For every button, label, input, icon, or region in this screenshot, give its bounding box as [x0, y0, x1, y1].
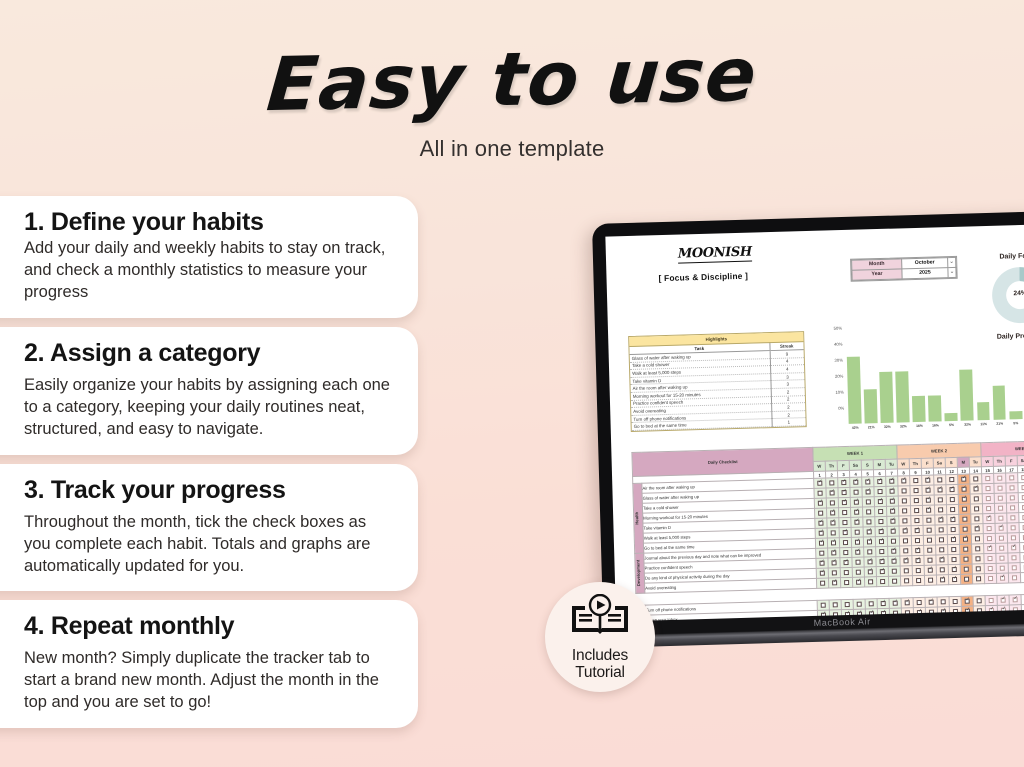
checkbox[interactable]: [831, 531, 836, 536]
checkbox[interactable]: [986, 516, 991, 521]
checkbox-cell[interactable]: [935, 525, 947, 535]
checkbox[interactable]: [938, 507, 943, 512]
checkbox[interactable]: [999, 556, 1004, 561]
checkbox-cell[interactable]: [937, 597, 949, 607]
checkbox[interactable]: [974, 516, 979, 521]
checkbox[interactable]: [901, 479, 906, 484]
checkbox[interactable]: [891, 549, 896, 554]
checkbox[interactable]: [949, 487, 954, 492]
checkbox-cell[interactable]: [910, 485, 922, 495]
checkbox-cell[interactable]: [996, 543, 1008, 553]
checkbox-cell[interactable]: [946, 484, 958, 494]
checkbox[interactable]: [963, 547, 968, 552]
checkbox-cell[interactable]: [911, 525, 923, 535]
checkbox[interactable]: [890, 519, 895, 524]
checkbox[interactable]: [963, 537, 968, 542]
checkbox-cell[interactable]: [995, 533, 1007, 543]
checkbox[interactable]: [856, 570, 861, 575]
checkbox-cell[interactable]: [886, 486, 898, 496]
checkbox[interactable]: [818, 521, 823, 526]
checkbox[interactable]: [951, 547, 956, 552]
checkbox-cell[interactable]: [995, 513, 1007, 523]
checkbox[interactable]: [891, 529, 896, 534]
checkbox[interactable]: [926, 508, 931, 513]
checkbox[interactable]: [1011, 525, 1016, 530]
checkbox[interactable]: [830, 491, 835, 496]
checkbox[interactable]: [987, 556, 992, 561]
checkbox-cell[interactable]: [828, 568, 840, 578]
checkbox[interactable]: [843, 560, 848, 565]
checkbox[interactable]: [914, 498, 919, 503]
checkbox-cell[interactable]: [814, 488, 826, 498]
checkbox[interactable]: [881, 601, 886, 606]
checkbox-cell[interactable]: [934, 505, 946, 515]
checkbox[interactable]: [913, 478, 918, 483]
checkbox[interactable]: [938, 517, 943, 522]
checkbox[interactable]: [902, 518, 907, 523]
checkbox[interactable]: [821, 603, 826, 608]
checkbox[interactable]: [891, 559, 896, 564]
checkbox-cell[interactable]: [910, 475, 922, 485]
checkbox-cell[interactable]: [949, 596, 961, 606]
checkbox[interactable]: [1011, 535, 1016, 540]
checkbox[interactable]: [1010, 515, 1015, 520]
checkbox[interactable]: [999, 546, 1004, 551]
checkbox-cell[interactable]: [971, 514, 983, 524]
checkbox-cell[interactable]: [922, 495, 934, 505]
checkbox[interactable]: [892, 569, 897, 574]
checkbox-cell[interactable]: [983, 523, 995, 533]
checkbox-cell[interactable]: [1008, 573, 1020, 583]
checkbox-cell[interactable]: [1006, 483, 1018, 493]
checkbox[interactable]: [843, 530, 848, 535]
checkbox-cell[interactable]: [911, 515, 923, 525]
checkbox[interactable]: [904, 578, 909, 583]
checkbox[interactable]: [987, 546, 992, 551]
checkbox-cell[interactable]: [984, 543, 996, 553]
checkbox-cell[interactable]: [912, 575, 924, 585]
checkbox-cell[interactable]: [816, 558, 828, 568]
checkbox[interactable]: [854, 490, 859, 495]
chevron-down-icon[interactable]: ⌄: [948, 257, 956, 267]
checkbox-cell[interactable]: [946, 504, 958, 514]
checkbox-cell[interactable]: [1020, 542, 1024, 552]
checkbox[interactable]: [855, 550, 860, 555]
checkbox-cell[interactable]: [886, 506, 898, 516]
checkbox[interactable]: [914, 508, 919, 513]
checkbox-cell[interactable]: [994, 473, 1006, 483]
checkbox[interactable]: [950, 507, 955, 512]
checkbox-cell[interactable]: [958, 484, 970, 494]
checkbox-cell[interactable]: [876, 556, 888, 566]
checkbox-cell[interactable]: [1018, 472, 1024, 482]
checkbox[interactable]: [927, 548, 932, 553]
checkbox-cell[interactable]: [898, 496, 910, 506]
checkbox-cell[interactable]: [814, 498, 826, 508]
checkbox[interactable]: [914, 488, 919, 493]
checkbox[interactable]: [819, 551, 824, 556]
checkbox-cell[interactable]: [898, 506, 910, 516]
checkbox-cell[interactable]: [970, 504, 982, 514]
checkbox[interactable]: [961, 477, 966, 482]
checkbox-cell[interactable]: [972, 554, 984, 564]
checkbox-cell[interactable]: [887, 526, 899, 536]
checkbox-cell[interactable]: [851, 517, 863, 527]
checkbox[interactable]: [845, 602, 850, 607]
checkbox-cell[interactable]: [971, 534, 983, 544]
checkbox[interactable]: [941, 599, 946, 604]
checkbox-cell[interactable]: [1020, 552, 1024, 562]
checkbox[interactable]: [1009, 485, 1014, 490]
checkbox[interactable]: [987, 526, 992, 531]
checkbox-cell[interactable]: [912, 555, 924, 565]
checkbox[interactable]: [878, 509, 883, 514]
checkbox[interactable]: [1000, 576, 1005, 581]
checkbox-cell[interactable]: [852, 557, 864, 567]
checkbox-cell[interactable]: [826, 478, 838, 488]
checkbox[interactable]: [940, 567, 945, 572]
checkbox-cell[interactable]: [864, 567, 876, 577]
checkbox-cell[interactable]: [970, 494, 982, 504]
checkbox-cell[interactable]: [924, 545, 936, 555]
checkbox-cell[interactable]: [982, 493, 994, 503]
checkbox[interactable]: [1012, 565, 1017, 570]
checkbox-cell[interactable]: [972, 574, 984, 584]
checkbox-cell[interactable]: [875, 506, 887, 516]
checkbox[interactable]: [928, 578, 933, 583]
checkbox[interactable]: [865, 480, 870, 485]
checkbox[interactable]: [866, 490, 871, 495]
checkbox[interactable]: [964, 567, 969, 572]
checkbox[interactable]: [999, 526, 1004, 531]
checkbox[interactable]: [902, 489, 907, 494]
checkbox-cell[interactable]: [912, 565, 924, 575]
checkbox[interactable]: [843, 540, 848, 545]
checkbox[interactable]: [877, 479, 882, 484]
checkbox-cell[interactable]: [996, 573, 1008, 583]
checkbox-cell[interactable]: [816, 568, 828, 578]
checkbox[interactable]: [830, 511, 835, 516]
checkbox-cell[interactable]: [982, 503, 994, 513]
checkbox-cell[interactable]: [1020, 562, 1024, 572]
checkbox-cell[interactable]: [982, 473, 994, 483]
checkbox-cell[interactable]: [960, 564, 972, 574]
checkbox[interactable]: [964, 577, 969, 582]
checkbox[interactable]: [976, 576, 981, 581]
checkbox[interactable]: [878, 519, 883, 524]
checkbox[interactable]: [820, 581, 825, 586]
checkbox[interactable]: [829, 481, 834, 486]
checkbox[interactable]: [926, 488, 931, 493]
checkbox-cell[interactable]: [947, 514, 959, 524]
checkbox[interactable]: [952, 567, 957, 572]
checkbox-cell[interactable]: [982, 483, 994, 493]
checkbox[interactable]: [939, 537, 944, 542]
checkbox-cell[interactable]: [838, 497, 850, 507]
checkbox-cell[interactable]: [839, 527, 851, 537]
checkbox-cell[interactable]: [888, 566, 900, 576]
checkbox[interactable]: [1012, 575, 1017, 580]
checkbox[interactable]: [915, 528, 920, 533]
checkbox-cell[interactable]: [815, 538, 827, 548]
checkbox[interactable]: [937, 478, 942, 483]
checkbox-cell[interactable]: [875, 516, 887, 526]
checkbox-cell[interactable]: [923, 515, 935, 525]
checkbox-cell[interactable]: [898, 476, 910, 486]
checkbox[interactable]: [998, 496, 1003, 501]
checkbox-cell[interactable]: [973, 596, 985, 606]
checkbox[interactable]: [925, 478, 930, 483]
checkbox-cell[interactable]: [958, 504, 970, 514]
checkbox[interactable]: [963, 557, 968, 562]
checkbox[interactable]: [976, 566, 981, 571]
checkbox-cell[interactable]: [876, 576, 888, 586]
checkbox[interactable]: [916, 568, 921, 573]
checkbox-cell[interactable]: [934, 475, 946, 485]
checkbox[interactable]: [962, 507, 967, 512]
checkbox-cell[interactable]: [899, 516, 911, 526]
checkbox[interactable]: [869, 601, 874, 606]
checkbox-cell[interactable]: [935, 515, 947, 525]
checkbox[interactable]: [892, 579, 897, 584]
checkbox-cell[interactable]: [853, 599, 865, 609]
checkbox[interactable]: [856, 580, 861, 585]
checkbox[interactable]: [963, 527, 968, 532]
checkbox[interactable]: [831, 550, 836, 555]
checkbox[interactable]: [977, 598, 982, 603]
checkbox[interactable]: [988, 566, 993, 571]
checkbox[interactable]: [950, 517, 955, 522]
checkbox[interactable]: [926, 498, 931, 503]
checkbox[interactable]: [973, 477, 978, 482]
checkbox-cell[interactable]: [828, 558, 840, 568]
checkbox-cell[interactable]: [994, 483, 1006, 493]
checkbox-cell[interactable]: [948, 554, 960, 564]
checkbox-cell[interactable]: [899, 536, 911, 546]
checkbox-cell[interactable]: [863, 507, 875, 517]
checkbox-cell[interactable]: [816, 548, 828, 558]
checkbox-cell[interactable]: [996, 553, 1008, 563]
checkbox-cell[interactable]: [1006, 493, 1018, 503]
checkbox[interactable]: [866, 520, 871, 525]
checkbox-cell[interactable]: [840, 577, 852, 587]
checkbox-cell[interactable]: [1006, 503, 1018, 513]
checkbox[interactable]: [857, 602, 862, 607]
checkbox-cell[interactable]: [1007, 513, 1019, 523]
checkbox-cell[interactable]: [970, 474, 982, 484]
checkbox[interactable]: [997, 476, 1002, 481]
checkbox[interactable]: [866, 500, 871, 505]
checkbox-cell[interactable]: [984, 573, 996, 583]
checkbox-cell[interactable]: [959, 524, 971, 534]
checkbox[interactable]: [986, 496, 991, 501]
checkbox[interactable]: [937, 488, 942, 493]
checkbox-cell[interactable]: [852, 547, 864, 557]
checkbox-cell[interactable]: [840, 547, 852, 557]
checkbox-cell[interactable]: [936, 555, 948, 565]
checkbox[interactable]: [842, 500, 847, 505]
checkbox-cell[interactable]: [948, 564, 960, 574]
checkbox[interactable]: [868, 569, 873, 574]
checkbox-cell[interactable]: [925, 597, 937, 607]
chevron-down-icon[interactable]: ⌄: [948, 267, 956, 277]
checkbox-cell[interactable]: [840, 567, 852, 577]
checkbox-cell[interactable]: [1007, 533, 1019, 543]
checkbox-cell[interactable]: [838, 487, 850, 497]
checkbox-cell[interactable]: [815, 508, 827, 518]
checkbox[interactable]: [832, 570, 837, 575]
checkbox-cell[interactable]: [972, 564, 984, 574]
checkbox[interactable]: [842, 510, 847, 515]
checkbox-cell[interactable]: [875, 526, 887, 536]
checkbox-cell[interactable]: [936, 575, 948, 585]
checkbox[interactable]: [962, 517, 967, 522]
checkbox-cell[interactable]: [961, 596, 973, 606]
checkbox[interactable]: [914, 518, 919, 523]
checkbox[interactable]: [961, 487, 966, 492]
checkbox[interactable]: [832, 580, 837, 585]
checkbox-cell[interactable]: [936, 565, 948, 575]
checkbox[interactable]: [818, 501, 823, 506]
checkbox-cell[interactable]: [984, 553, 996, 563]
checkbox-cell[interactable]: [839, 517, 851, 527]
checkbox[interactable]: [904, 568, 909, 573]
checkbox-cell[interactable]: [889, 598, 901, 608]
checkbox-cell[interactable]: [960, 574, 972, 584]
checkbox[interactable]: [889, 479, 894, 484]
checkbox[interactable]: [915, 558, 920, 563]
checkbox[interactable]: [975, 546, 980, 551]
checkbox[interactable]: [998, 506, 1003, 511]
month-year-selector[interactable]: Month October ⌄ Year 2025 ⌄: [850, 256, 958, 282]
checkbox[interactable]: [854, 510, 859, 515]
checkbox[interactable]: [985, 486, 990, 491]
checkbox-cell[interactable]: [995, 523, 1007, 533]
checkbox-cell[interactable]: [877, 598, 889, 608]
checkbox[interactable]: [973, 486, 978, 491]
checkbox-cell[interactable]: [874, 486, 886, 496]
checkbox-cell[interactable]: [985, 595, 997, 605]
checkbox-cell[interactable]: [996, 563, 1008, 573]
checkbox-cell[interactable]: [887, 516, 899, 526]
checkbox-cell[interactable]: [1008, 563, 1020, 573]
checkbox[interactable]: [916, 578, 921, 583]
checkbox[interactable]: [817, 481, 822, 486]
checkbox[interactable]: [939, 547, 944, 552]
checkbox[interactable]: [953, 599, 958, 604]
checkbox[interactable]: [867, 539, 872, 544]
checkbox[interactable]: [1011, 545, 1016, 550]
checkbox-cell[interactable]: [839, 507, 851, 517]
checkbox[interactable]: [833, 602, 838, 607]
checkbox[interactable]: [950, 497, 955, 502]
checkbox-cell[interactable]: [946, 494, 958, 504]
checkbox[interactable]: [1011, 555, 1016, 560]
checkbox-cell[interactable]: [826, 488, 838, 498]
checkbox-cell[interactable]: [900, 546, 912, 556]
checkbox-cell[interactable]: [959, 514, 971, 524]
checkbox-cell[interactable]: [924, 555, 936, 565]
checkbox[interactable]: [929, 600, 934, 605]
checkbox-cell[interactable]: [972, 544, 984, 554]
checkbox-cell[interactable]: [910, 495, 922, 505]
checkbox[interactable]: [819, 561, 824, 566]
checkbox-cell[interactable]: [826, 498, 838, 508]
checkbox-cell[interactable]: [984, 563, 996, 573]
checkbox[interactable]: [902, 509, 907, 514]
checkbox[interactable]: [855, 540, 860, 545]
checkbox-cell[interactable]: [839, 537, 851, 547]
checkbox[interactable]: [962, 497, 967, 502]
checkbox-cell[interactable]: [947, 534, 959, 544]
checkbox-cell[interactable]: [960, 554, 972, 564]
checkbox[interactable]: [903, 558, 908, 563]
checkbox[interactable]: [879, 529, 884, 534]
checkbox[interactable]: [844, 580, 849, 585]
checkbox[interactable]: [988, 576, 993, 581]
checkbox[interactable]: [951, 557, 956, 562]
checkbox-cell[interactable]: [827, 508, 839, 518]
checkbox[interactable]: [841, 480, 846, 485]
checkbox-cell[interactable]: [1019, 532, 1024, 542]
checkbox-cell[interactable]: [900, 566, 912, 576]
checkbox-cell[interactable]: [815, 528, 827, 538]
checkbox[interactable]: [975, 556, 980, 561]
checkbox[interactable]: [819, 541, 824, 546]
checkbox[interactable]: [903, 548, 908, 553]
checkbox-cell[interactable]: [862, 487, 874, 497]
checkbox[interactable]: [854, 520, 859, 525]
checkbox[interactable]: [879, 539, 884, 544]
checkbox[interactable]: [999, 536, 1004, 541]
checkbox[interactable]: [927, 538, 932, 543]
checkbox-cell[interactable]: [888, 556, 900, 566]
checkbox[interactable]: [842, 520, 847, 525]
checkbox-cell[interactable]: [1007, 523, 1019, 533]
checkbox[interactable]: [843, 550, 848, 555]
checkbox-cell[interactable]: [817, 600, 829, 610]
checkbox-cell[interactable]: [888, 546, 900, 556]
checkbox-cell[interactable]: [1008, 553, 1020, 563]
checkbox-cell[interactable]: [959, 534, 971, 544]
checkbox[interactable]: [820, 571, 825, 576]
checkbox[interactable]: [890, 489, 895, 494]
checkbox-cell[interactable]: [947, 524, 959, 534]
checkbox-cell[interactable]: [994, 503, 1006, 513]
checkbox[interactable]: [1013, 597, 1018, 602]
checkbox[interactable]: [867, 529, 872, 534]
checkbox[interactable]: [879, 549, 884, 554]
checkbox[interactable]: [1009, 475, 1014, 480]
checkbox-cell[interactable]: [911, 535, 923, 545]
checkbox-cell[interactable]: [1006, 473, 1018, 483]
checkbox[interactable]: [830, 501, 835, 506]
checkbox-cell[interactable]: [1019, 512, 1024, 522]
checkbox-cell[interactable]: [827, 538, 839, 548]
checkbox-cell[interactable]: [1020, 572, 1024, 582]
checkbox-cell[interactable]: [852, 567, 864, 577]
checkbox-cell[interactable]: [983, 533, 995, 543]
checkbox-cell[interactable]: [863, 537, 875, 547]
checkbox-cell[interactable]: [851, 527, 863, 537]
checkbox-cell[interactable]: [850, 477, 862, 487]
checkbox-cell[interactable]: [815, 518, 827, 528]
checkbox-cell[interactable]: [971, 524, 983, 534]
checkbox-cell[interactable]: [935, 535, 947, 545]
checkbox-cell[interactable]: [862, 477, 874, 487]
checkbox-cell[interactable]: [900, 556, 912, 566]
checkbox[interactable]: [844, 570, 849, 575]
